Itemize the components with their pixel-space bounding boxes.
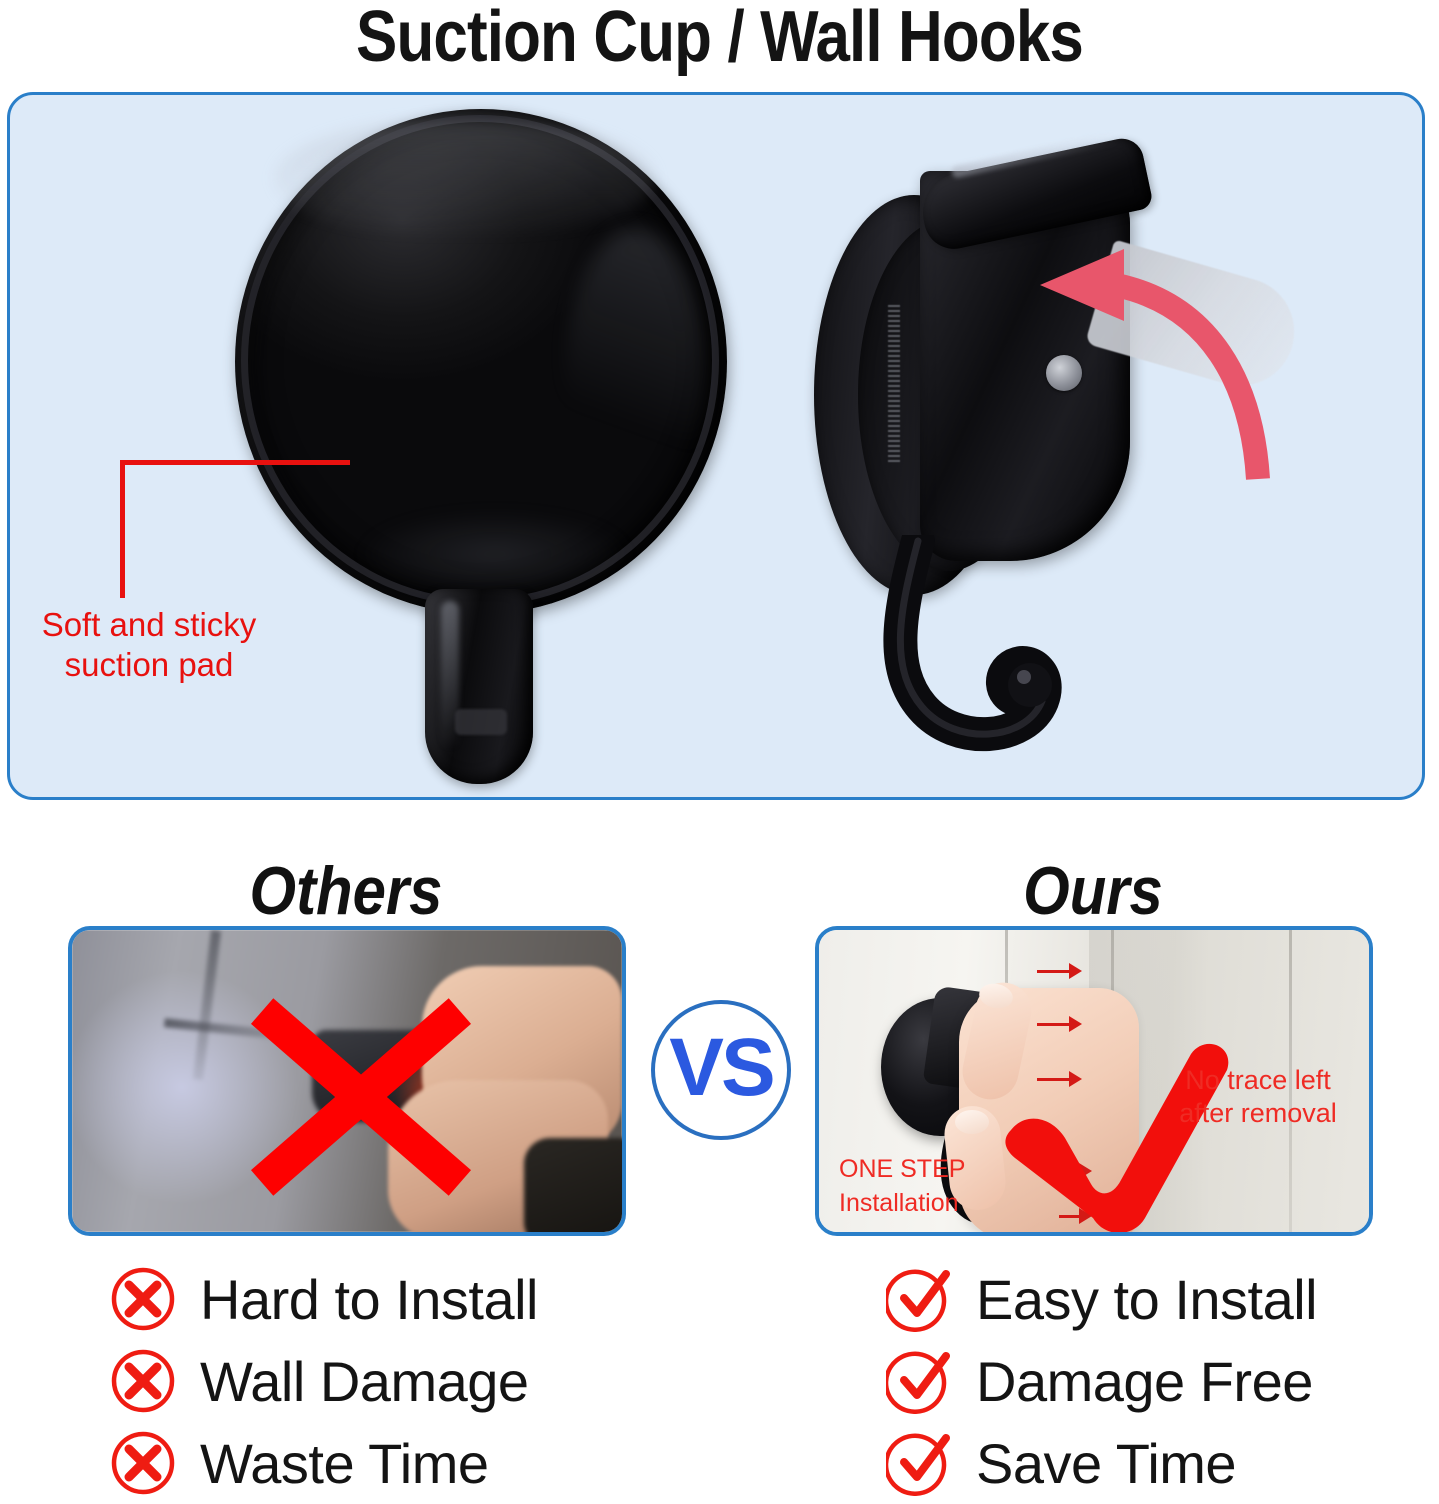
ours-arrow-line-1 <box>1037 970 1071 973</box>
others-heading: Others <box>42 852 651 930</box>
ours-arrow-line-2 <box>1037 1023 1071 1026</box>
red-cross-overlay-icon <box>230 1000 440 1180</box>
list-item: Hard to Install <box>110 1258 770 1340</box>
suction-pad-highlight-bottom <box>355 509 635 599</box>
callout-line-1: Soft and sticky <box>24 605 274 645</box>
others-benefit-list: Hard to Install Wall Damage Waste Time <box>110 1258 770 1504</box>
vs-badge: VS <box>651 1000 791 1140</box>
ours-arrow-head-1 <box>1069 963 1082 979</box>
ours-photo-image: No trace left after removal ONE STEP Ins… <box>819 930 1369 1232</box>
ours-benefit-list: Easy to Install Damage Free Save Time <box>886 1258 1439 1504</box>
list-item-label: Damage Free <box>976 1349 1313 1414</box>
list-item-label: Hard to Install <box>200 1267 538 1332</box>
circled-check-icon <box>886 1266 952 1332</box>
circled-check-icon <box>886 1348 952 1414</box>
suction-pad-highlight-right <box>565 229 705 529</box>
others-photo-frame <box>68 926 626 1236</box>
no-trace-note-line-1: No trace left <box>1149 1064 1367 1097</box>
one-step-note: ONE STEP Installation <box>839 1152 1029 1220</box>
curved-left-arrow-icon <box>1020 233 1270 483</box>
ours-arrow-head-2 <box>1069 1016 1082 1032</box>
side-hook-curve <box>860 535 1110 785</box>
circled-x-icon <box>110 1348 176 1414</box>
callout-leader-horizontal <box>120 460 350 465</box>
callout-leader-vertical <box>120 460 125 598</box>
hero-product-panel: Soft and sticky suction pad <box>7 92 1425 800</box>
circled-x-icon <box>110 1430 176 1496</box>
others-sleeve <box>524 1138 626 1236</box>
list-item: Damage Free <box>886 1340 1439 1422</box>
callout-text: Soft and sticky suction pad <box>24 605 274 685</box>
wall-crack-line <box>193 930 221 1080</box>
list-item-label: Waste Time <box>200 1431 489 1496</box>
suction-cup-hook-front-view <box>235 109 735 789</box>
ours-fingernail-2 <box>955 1110 989 1134</box>
front-hook-emboss <box>455 709 507 735</box>
one-step-note-line-1: ONE STEP <box>839 1152 1029 1186</box>
ours-heading: Ours <box>789 852 1398 930</box>
no-trace-note: No trace left after removal <box>1149 1064 1367 1130</box>
vs-label: VS <box>669 1027 772 1109</box>
list-item: Easy to Install <box>886 1258 1439 1340</box>
list-item-label: Easy to Install <box>976 1267 1317 1332</box>
list-item: Waste Time <box>110 1422 770 1504</box>
circled-check-icon <box>886 1430 952 1496</box>
no-trace-note-line-2: after removal <box>1149 1097 1367 1130</box>
list-item-label: Save Time <box>976 1431 1236 1496</box>
page-title: Suction Cup / Wall Hooks <box>101 0 1339 78</box>
ours-photo-frame: No trace left after removal ONE STEP Ins… <box>815 926 1373 1236</box>
list-item: Wall Damage <box>110 1340 770 1422</box>
one-step-note-line-2: Installation <box>839 1186 1029 1220</box>
list-item: Save Time <box>886 1422 1439 1504</box>
side-suction-cup-ridges <box>888 305 900 465</box>
circled-x-icon <box>110 1266 176 1332</box>
callout-line-2: suction pad <box>24 645 274 685</box>
list-item-label: Wall Damage <box>200 1349 529 1414</box>
suction-pad-highlight-top <box>275 119 655 239</box>
